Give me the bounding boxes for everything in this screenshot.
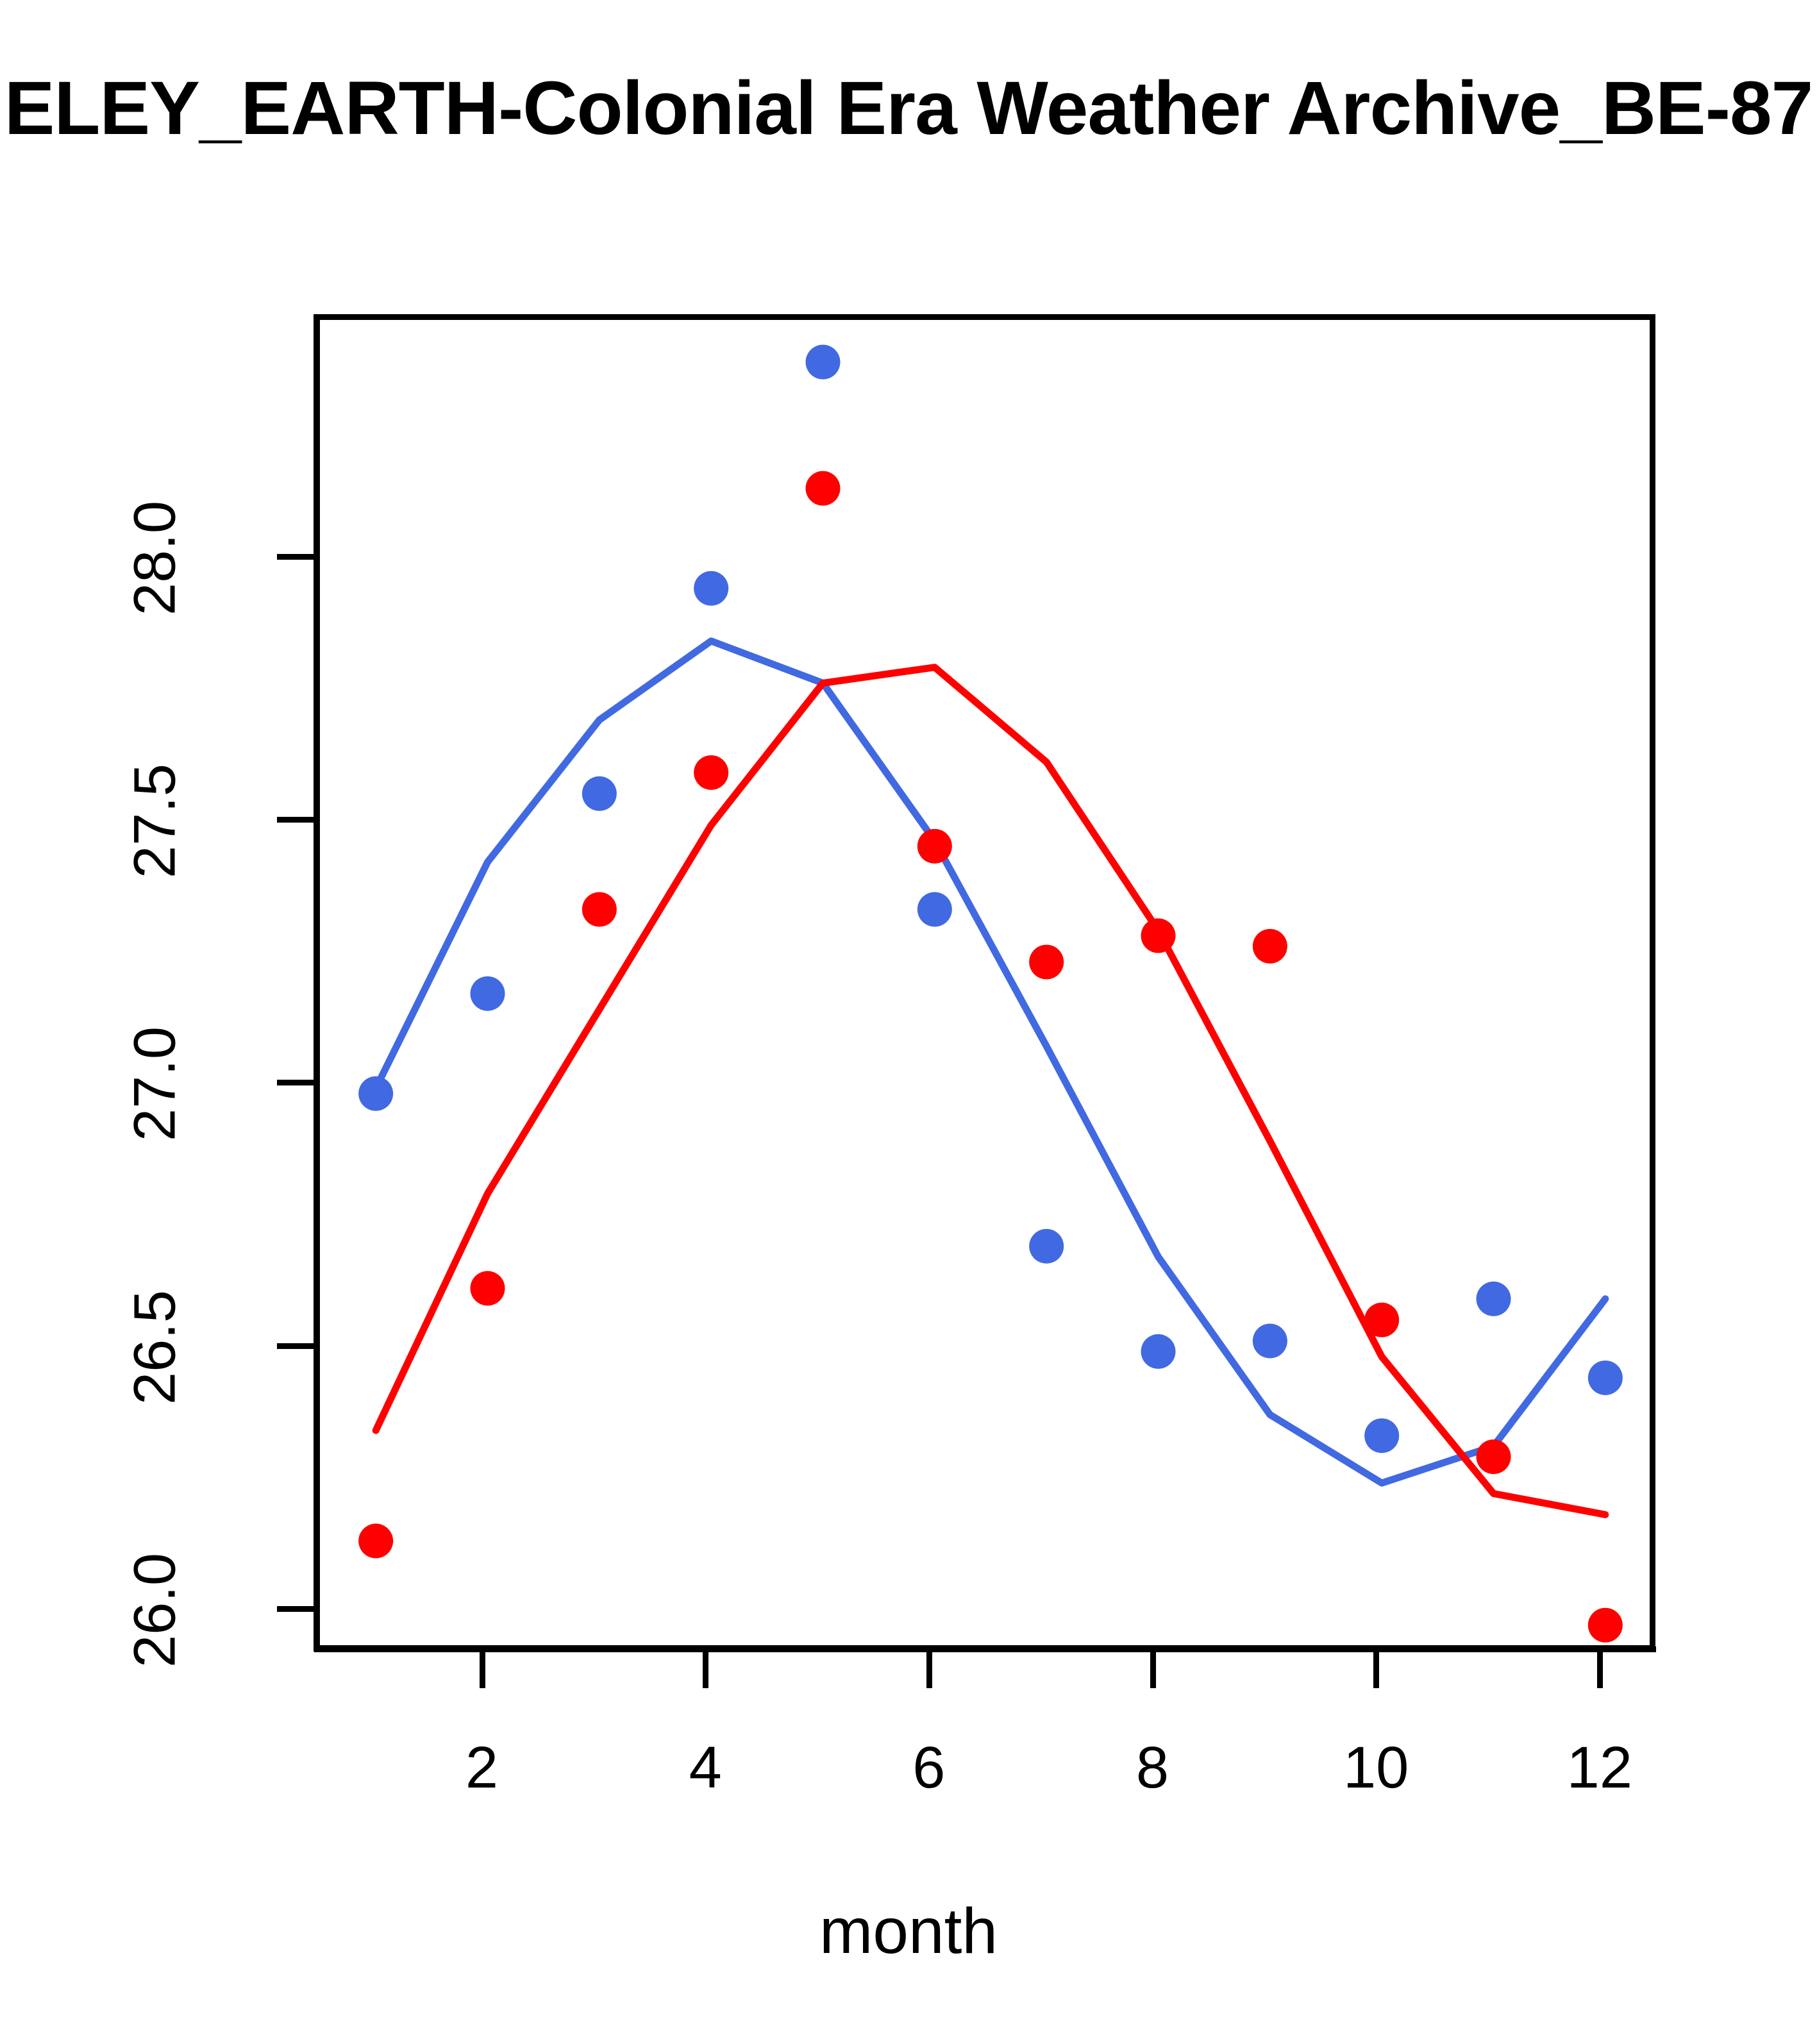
- data-point: [1141, 918, 1176, 953]
- chart-canvas: ELEY_EARTH-Colonial Era Weather Archive_…: [0, 0, 1817, 2044]
- x-tick-label: 4: [609, 1734, 801, 1802]
- data-point: [1364, 1303, 1399, 1337]
- y-tick-mark: [277, 817, 314, 823]
- data-point: [806, 345, 841, 380]
- data-point: [806, 471, 841, 506]
- y-tick-mark: [277, 554, 314, 560]
- series-line-red-line: [376, 667, 1605, 1515]
- y-tick-mark: [277, 1080, 314, 1085]
- y-tick-mark: [277, 1606, 314, 1612]
- data-point: [1141, 1334, 1176, 1369]
- page-title: ELEY_EARTH-Colonial Era Weather Archive_…: [4, 71, 1813, 146]
- plot-area: [320, 320, 1650, 1645]
- data-point: [1477, 1282, 1511, 1316]
- x-tick-label: 10: [1280, 1734, 1472, 1802]
- data-point: [1253, 929, 1287, 964]
- data-point: [471, 976, 505, 1011]
- x-tick-label: 2: [386, 1734, 578, 1802]
- data-point: [471, 1271, 505, 1305]
- y-tick-label: 27.5: [122, 725, 189, 917]
- y-tick-mark: [277, 1343, 314, 1349]
- data-point: [358, 1076, 393, 1111]
- data-point: [582, 776, 617, 811]
- data-point: [694, 571, 728, 606]
- data-point: [1588, 1608, 1623, 1643]
- data-point: [1253, 1323, 1287, 1358]
- data-point: [358, 1523, 393, 1558]
- x-tick-label: 12: [1503, 1734, 1696, 1802]
- data-point: [917, 892, 952, 926]
- y-tick-label: 26.0: [122, 1514, 189, 1707]
- series-line-blue-line: [376, 641, 1605, 1483]
- data-point: [1029, 1229, 1064, 1264]
- data-point: [917, 829, 952, 864]
- data-point: [1029, 944, 1064, 979]
- data-point: [694, 755, 728, 790]
- series-layer: [320, 320, 1661, 1657]
- plot-frame: [314, 314, 1655, 1651]
- x-tick-label: 8: [1057, 1734, 1249, 1802]
- data-point: [1477, 1439, 1511, 1474]
- data-point: [1588, 1361, 1623, 1395]
- data-point: [1364, 1418, 1399, 1453]
- y-tick-label: 28.0: [122, 462, 189, 654]
- data-point: [582, 892, 617, 926]
- x-tick-label: 6: [833, 1734, 1025, 1802]
- y-tick-label: 27.0: [122, 988, 189, 1180]
- x-axis-title: month: [0, 1895, 1817, 1968]
- y-tick-label: 26.5: [122, 1251, 189, 1443]
